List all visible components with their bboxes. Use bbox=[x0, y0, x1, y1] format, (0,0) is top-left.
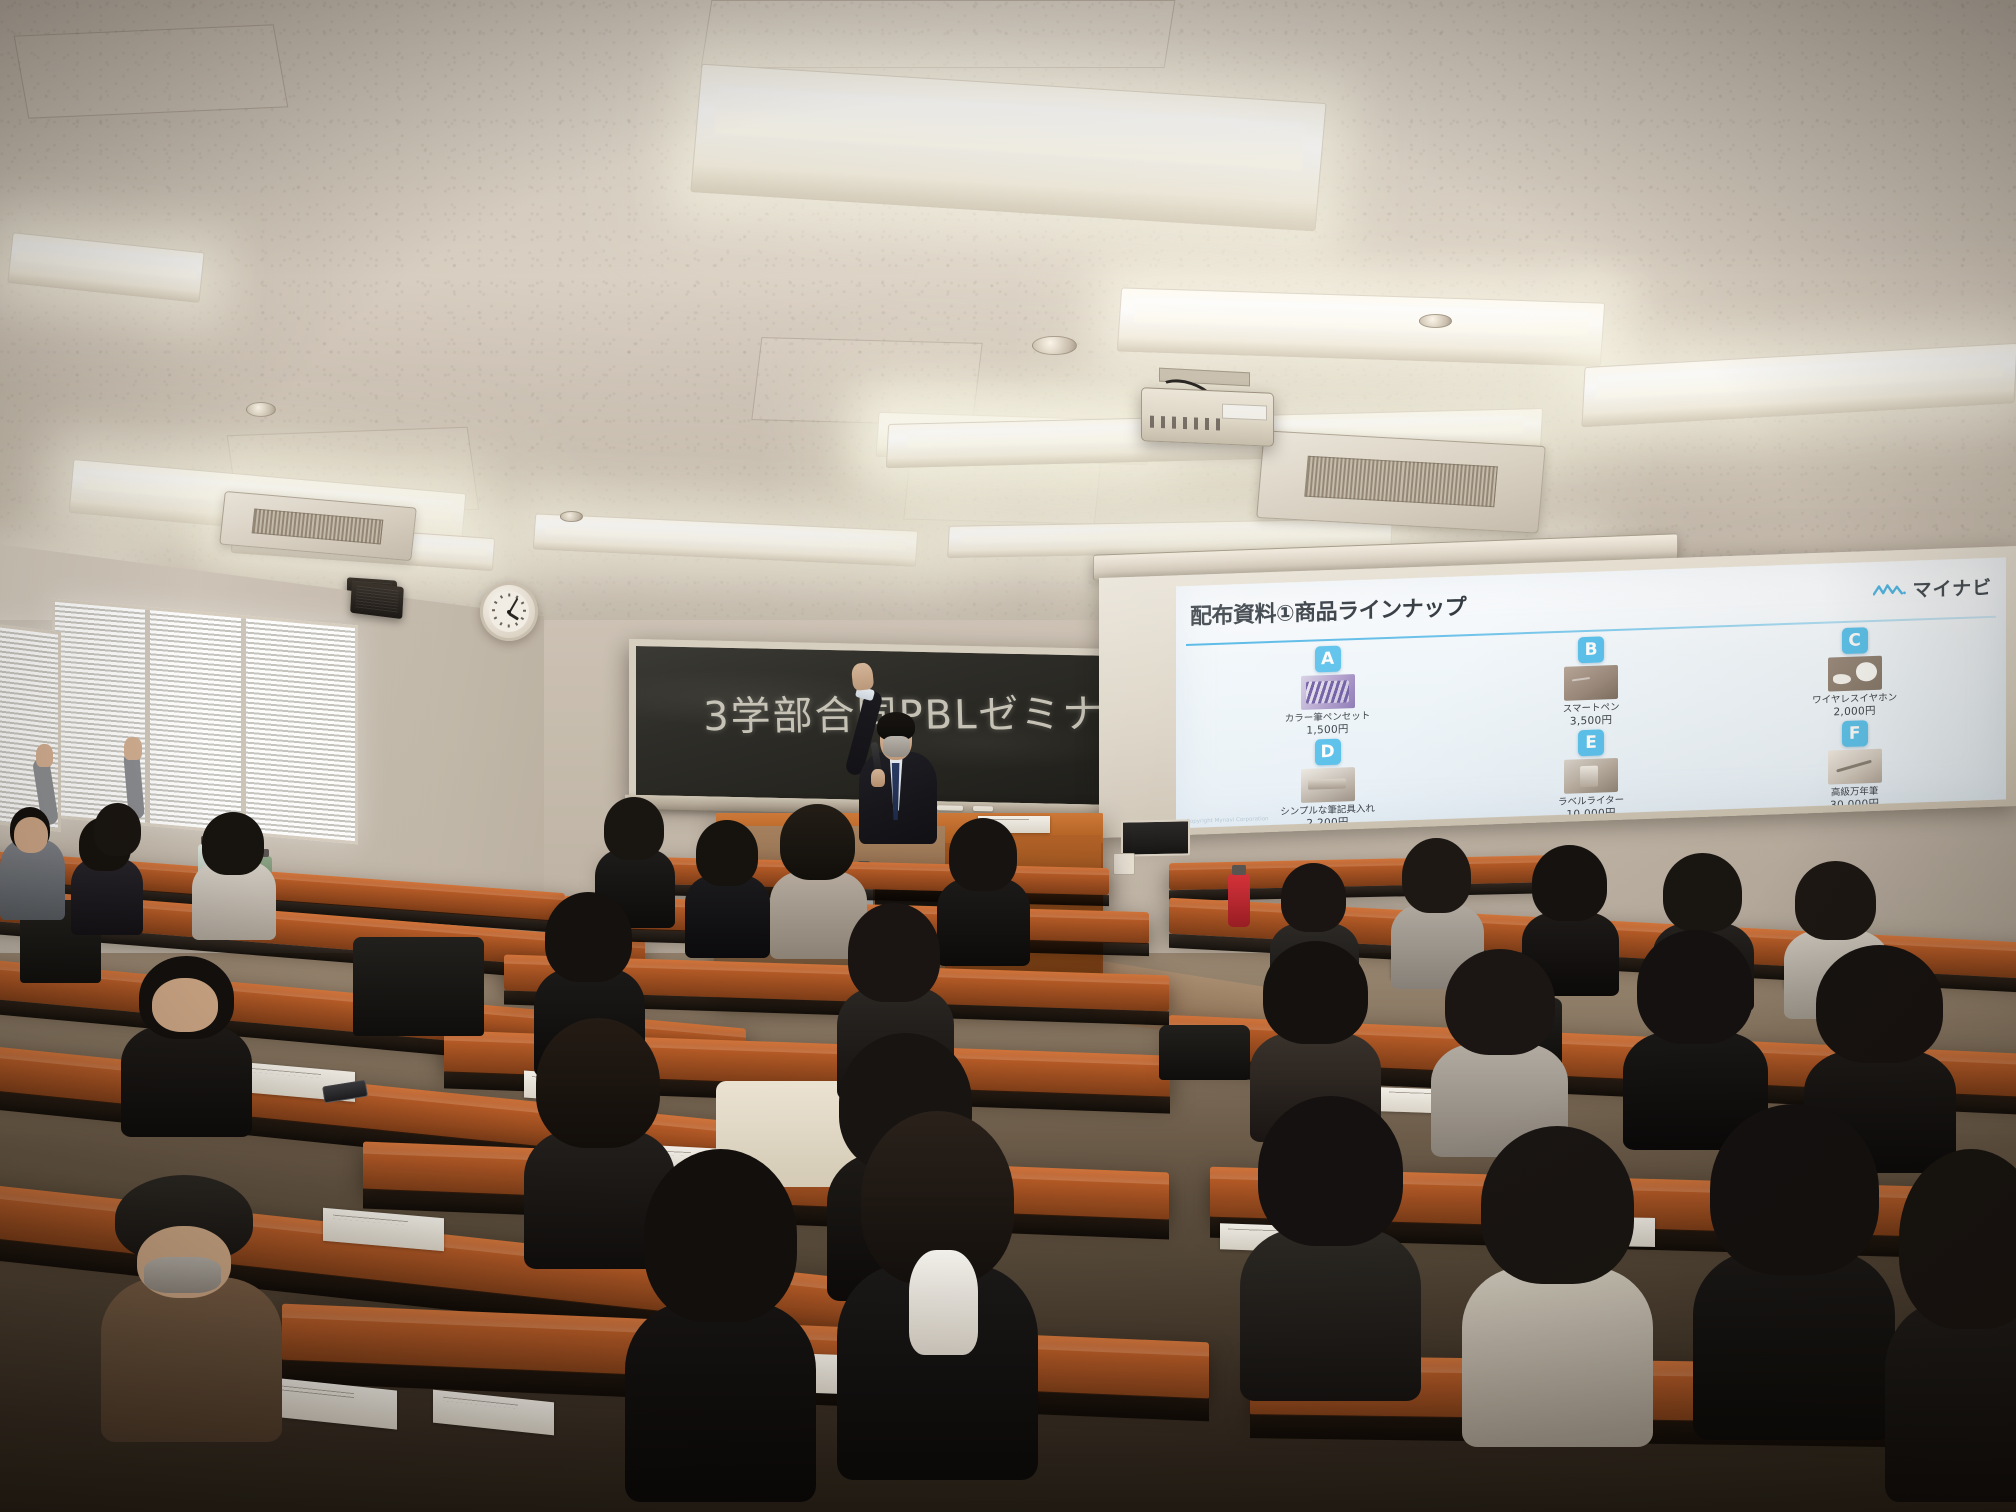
student-hair bbox=[1258, 1096, 1403, 1245]
product-price: 30,000円 bbox=[1830, 798, 1879, 812]
student-hair bbox=[1445, 949, 1555, 1055]
presentation-slide: 配布資料①商品ラインナップ マイナビ A カラー筆ペンセット 1,500円 bbox=[1176, 558, 2006, 829]
student-torso bbox=[1240, 1228, 1421, 1400]
student-hair bbox=[1710, 1104, 1879, 1275]
student-torso bbox=[101, 1277, 282, 1442]
student-hair bbox=[644, 1149, 797, 1322]
backpack bbox=[353, 937, 484, 1035]
student-torso bbox=[1693, 1250, 1895, 1441]
product-cell: B スマートペン 3,500円 bbox=[1460, 633, 1722, 733]
product-thumbnail bbox=[1564, 758, 1618, 794]
product-caption: スマートペン 3,500円 bbox=[1562, 703, 1619, 730]
student bbox=[625, 1149, 817, 1482]
student-hair bbox=[1637, 930, 1753, 1044]
student bbox=[121, 945, 252, 1126]
brand-lockup: マイナビ bbox=[1872, 574, 1992, 605]
student bbox=[192, 798, 277, 934]
student-torso bbox=[1885, 1302, 2016, 1502]
student-hair bbox=[604, 797, 664, 860]
presenter-face-mask bbox=[883, 736, 910, 757]
product-price: 1,500円 bbox=[1285, 723, 1371, 738]
student bbox=[0, 786, 65, 915]
student-hair bbox=[848, 903, 939, 1001]
slide-title: 配布資料①商品ラインナップ bbox=[1190, 590, 1466, 632]
ceiling-tile bbox=[751, 337, 982, 426]
product-name: スマートペン bbox=[1562, 703, 1619, 716]
product-cell: C ワイヤレスイヤホン 2,000円 bbox=[1724, 624, 1986, 724]
ceiling-tile bbox=[14, 25, 289, 120]
student bbox=[1462, 1126, 1654, 1428]
water-bottle bbox=[1228, 874, 1250, 927]
wall-speaker bbox=[350, 581, 404, 619]
product-caption: 高級万年筆 30,000円 bbox=[1830, 786, 1879, 812]
projection-screen: 配布資料①商品ラインナップ マイナビ A カラー筆ペンセット 1,500円 bbox=[1099, 546, 2016, 838]
student-with-cap bbox=[101, 1164, 282, 1421]
student bbox=[1693, 1104, 1895, 1422]
student-hair bbox=[949, 818, 1018, 891]
product-thumbnail bbox=[1564, 666, 1618, 702]
student-hair bbox=[1663, 853, 1742, 932]
student-hair bbox=[1795, 861, 1877, 940]
product-price: 2,200円 bbox=[1280, 816, 1375, 829]
student-hair bbox=[1899, 1149, 2016, 1329]
raised-hand bbox=[36, 744, 53, 767]
product-cell: A カラー筆ペンセット 1,500円 bbox=[1197, 642, 1459, 742]
brand-name: マイナビ bbox=[1912, 574, 1992, 604]
product-badge: E bbox=[1578, 730, 1604, 757]
wall-outlet bbox=[1113, 853, 1135, 876]
student-hair bbox=[1281, 863, 1347, 932]
student-torso bbox=[121, 1025, 252, 1137]
product-caption: ワイヤレスイヤホン 2,000円 bbox=[1812, 693, 1897, 721]
product-badge: D bbox=[1314, 739, 1340, 766]
student-with-ribbon bbox=[837, 1111, 1039, 1459]
product-caption: シンプルな筆記具入れ 2,200円 bbox=[1280, 804, 1375, 829]
student-hair bbox=[1263, 941, 1368, 1043]
raised-hand bbox=[124, 737, 141, 760]
student-hair bbox=[1532, 845, 1607, 921]
ceiling-ac-unit bbox=[1256, 431, 1546, 534]
clock-face bbox=[489, 591, 530, 632]
smoke-detector-icon bbox=[560, 511, 582, 522]
wall-monitor bbox=[1121, 819, 1190, 856]
product-price: 2,000円 bbox=[1812, 705, 1897, 720]
smoke-detector-icon bbox=[1032, 336, 1076, 356]
product-cell: F 高級万年筆 30,000円 bbox=[1724, 716, 1986, 816]
product-thumbnail bbox=[1300, 675, 1354, 711]
student-head bbox=[14, 817, 48, 853]
student-hair bbox=[536, 1018, 660, 1149]
product-badge: A bbox=[1314, 646, 1340, 673]
student bbox=[1885, 1149, 2016, 1482]
backpack bbox=[1159, 1025, 1250, 1079]
student bbox=[685, 809, 770, 953]
product-grid: A カラー筆ペンセット 1,500円 B スマートペン 3,500円 bbox=[1197, 624, 1986, 811]
student-hair bbox=[94, 803, 141, 856]
ceiling-projector bbox=[1141, 387, 1274, 447]
ceiling-tile bbox=[700, 0, 1174, 68]
product-thumbnail bbox=[1827, 656, 1881, 692]
student-hair bbox=[1816, 945, 1943, 1063]
lecture-hall-photo: 3学部合同PBLゼミナール 配布資料①商品ラインナップ マイナビ bbox=[0, 0, 2016, 1512]
product-price: 3,500円 bbox=[1562, 715, 1619, 729]
wall-clock bbox=[480, 582, 538, 641]
face-mask bbox=[144, 1257, 220, 1293]
product-caption: ラベルライター 10,000円 bbox=[1558, 795, 1624, 822]
student-hair bbox=[545, 892, 631, 983]
product-thumbnail bbox=[1300, 767, 1354, 803]
product-price: 10,000円 bbox=[1558, 807, 1624, 822]
student-torso bbox=[1462, 1266, 1654, 1447]
mynavi-wave-icon bbox=[1872, 582, 1906, 599]
product-badge: B bbox=[1578, 637, 1604, 664]
product-cell: D シンプルな筆記具入れ 2,200円 bbox=[1197, 735, 1459, 829]
student bbox=[1431, 945, 1568, 1149]
smoke-detector-icon bbox=[1419, 314, 1451, 328]
student-torso bbox=[625, 1302, 817, 1502]
product-cell: E ラベルライター 10,000円 bbox=[1460, 726, 1722, 826]
student-hair bbox=[202, 812, 265, 875]
student bbox=[1240, 1096, 1421, 1383]
student-torso bbox=[685, 875, 770, 958]
student-hair bbox=[780, 804, 855, 880]
product-caption: カラー筆ペンセット 1,500円 bbox=[1285, 711, 1371, 739]
student-hair bbox=[696, 820, 759, 886]
product-badge: C bbox=[1841, 628, 1867, 655]
student-hair bbox=[1402, 838, 1471, 914]
student-head bbox=[152, 978, 218, 1032]
product-badge: F bbox=[1841, 720, 1867, 747]
student bbox=[85, 779, 154, 912]
product-name: 高級万年筆 bbox=[1831, 786, 1879, 799]
white-ribbon bbox=[909, 1250, 978, 1354]
product-thumbnail bbox=[1827, 749, 1881, 785]
student-hair bbox=[1481, 1126, 1634, 1283]
presenter-mic-hand bbox=[871, 769, 885, 786]
